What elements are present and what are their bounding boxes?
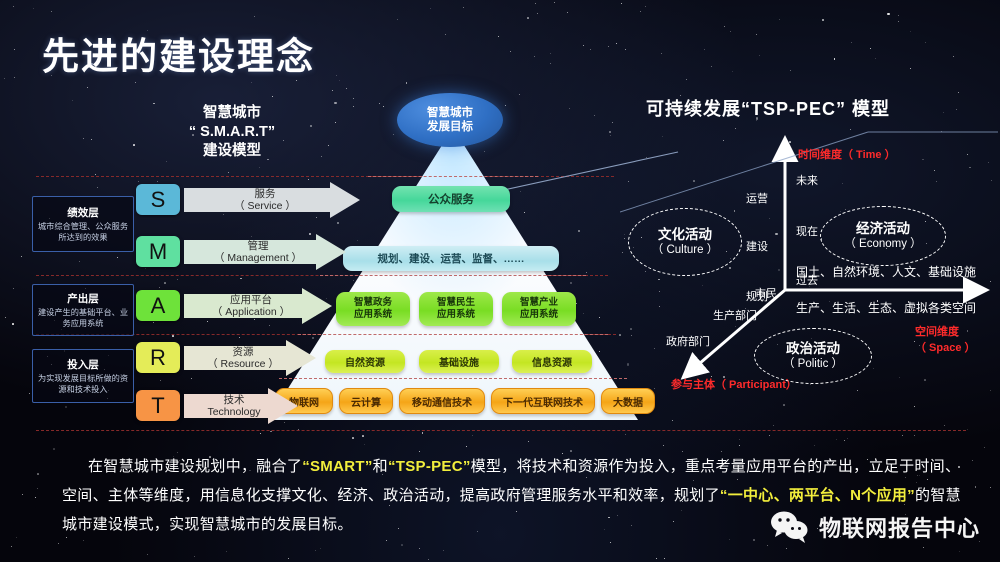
goal-line1: 智慧城市 [427, 106, 473, 120]
capsule-label-line1: 智慧产业 [520, 297, 558, 309]
goal-line2: 发展目标 [427, 120, 473, 134]
space-ticks-line2: 生产、生活、生态、虚拟各类空间 [796, 299, 976, 316]
pyramid-divider-4 [279, 378, 627, 379]
arrow-label-cn: 服务 [234, 188, 296, 201]
oval-economy-activity[interactable]: 经济活动 （ Economy ） [820, 206, 946, 266]
capsule-label-line2: 应用系统 [520, 309, 558, 321]
capsule-information-resources[interactable]: 信息资源 [512, 350, 592, 373]
arrow-label-en: Technology [207, 406, 260, 419]
watermark-text: 物联网报告中心 [819, 511, 980, 543]
capsule-management-scope[interactable]: 规划、建设、运营、监督、…… [343, 246, 559, 271]
infobox-performance-layer[interactable]: 绩效层 城市综合管理、公众服务所达到的效果 [32, 196, 134, 252]
tile-letter-a[interactable]: A [136, 290, 180, 321]
infobox-desc: 为实现发展目标所做的资源和技术投入 [33, 374, 133, 395]
oval-label-cn: 文化活动 [658, 227, 712, 243]
capsule-cloud-computing[interactable]: 云计算 [339, 388, 393, 414]
infobox-input-layer[interactable]: 投入层 为实现发展目标所做的资源和技术投入 [32, 349, 134, 403]
capsule-label: 下一代互联网技术 [503, 394, 583, 409]
page-title: 先进的建设理念 [42, 26, 315, 80]
arrow-label-en: （ Management ） [214, 252, 302, 265]
development-goal-ellipse: 智慧城市 发展目标 [397, 93, 503, 147]
oval-label-en: （ Politic ） [783, 357, 843, 371]
tile-letter: M [149, 239, 167, 265]
infobox-title: 绩效层 [67, 205, 99, 220]
capsule-public-service[interactable]: 公众服务 [392, 186, 510, 212]
capsule-label-line1: 智慧民生 [437, 297, 475, 309]
summary-highlight-smart: “SMART” [302, 458, 372, 475]
time-axis-label: 时间维度（ Time ） [798, 146, 896, 162]
wechat-icon [770, 510, 810, 544]
tile-letter: T [151, 393, 164, 419]
oval-label-cn: 政治活动 [786, 341, 840, 357]
capsule-label: 自然资源 [345, 354, 385, 369]
tile-letter: R [150, 345, 166, 371]
oval-label-en: （ Culture ） [652, 243, 718, 257]
summary-highlight-mode: “一中心、两平台、N个应用” [720, 487, 915, 504]
pyramid-divider-2 [320, 275, 586, 276]
arrow-label-en: （ Resource ） [207, 358, 279, 371]
arrow-label-cn: 管理 [214, 240, 302, 253]
slide-canvas: 先进的建设理念 智慧城市 “ S.M.A.R.T” 建设模型 可持续发展“TSP… [0, 0, 1000, 562]
space-axis-label-line2: （ Space ） [915, 339, 976, 355]
capsule-infrastructure[interactable]: 基础设施 [419, 350, 499, 373]
tile-letter: A [151, 293, 166, 319]
capsule-label: 规划、建设、运营、监督、…… [378, 251, 525, 266]
arrow-label-cn: 应用平台 [212, 294, 290, 307]
oval-label-en: （ Economy ） [844, 237, 921, 251]
infobox-title: 产出层 [67, 291, 99, 306]
infobox-desc: 城市综合管理、公众服务所达到的效果 [33, 222, 133, 243]
capsule-label: 基础设施 [439, 354, 479, 369]
stage-tick-operation: 运营 [746, 190, 768, 206]
capsule-smart-government[interactable]: 智慧政务 应用系统 [336, 292, 410, 326]
divider-bottom [36, 430, 966, 431]
capsule-label: 移动通信技术 [412, 394, 472, 409]
infobox-title: 投入层 [67, 357, 99, 372]
capsule-label: 信息资源 [532, 354, 572, 369]
capsule-label: 云计算 [351, 394, 381, 409]
space-axis-label-line1: 空间维度 [915, 323, 959, 339]
arrow-label-cn: 资源 [207, 346, 279, 359]
capsule-label: 公众服务 [428, 191, 474, 207]
watermark: 物联网报告中心 [770, 510, 980, 544]
infobox-output-layer[interactable]: 产出层 建设产生的基础平台、业务应用系统 [32, 284, 134, 336]
arrow-label-cn: 技术 [207, 394, 260, 407]
participant-tick-citizen: 市民 [755, 285, 777, 301]
capsule-label-line2: 应用系统 [354, 309, 392, 321]
tile-letter-t[interactable]: T [136, 390, 180, 421]
tile-letter-s[interactable]: S [136, 184, 180, 215]
stage-tick-construction: 建设 [746, 238, 768, 254]
tile-letter-r[interactable]: R [136, 342, 180, 373]
capsule-smart-livelihood[interactable]: 智慧民生 应用系统 [419, 292, 493, 326]
capsule-natural-resources[interactable]: 自然资源 [325, 350, 405, 373]
smart-caption-line1: 智慧城市 [152, 104, 312, 123]
time-tick-present: 现在 [796, 223, 818, 239]
capsule-label-line2: 应用系统 [437, 309, 475, 321]
oval-label-cn: 经济活动 [856, 221, 910, 237]
pyramid-divider-3 [298, 334, 609, 335]
oval-culture-activity[interactable]: 文化活动 （ Culture ） [628, 208, 742, 276]
oval-politic-activity[interactable]: 政治活动 （ Politic ） [754, 328, 872, 384]
participant-tick-production: 生产部门 [713, 307, 757, 323]
participant-tick-government: 政府部门 [666, 333, 710, 349]
tile-letter: S [151, 187, 166, 213]
arrow-label-en: （ Application ） [212, 306, 290, 319]
infobox-desc: 建设产生的基础平台、业务应用系统 [33, 308, 133, 329]
capsule-next-gen-internet[interactable]: 下一代互联网技术 [491, 388, 595, 414]
capsule-smart-industry[interactable]: 智慧产业 应用系统 [502, 292, 576, 326]
tile-letter-m[interactable]: M [136, 236, 180, 267]
summary-seg2: 和 [373, 458, 388, 475]
arrow-label-en: （ Service ） [234, 200, 296, 213]
summary-highlight-tsppec: “TSP-PEC” [388, 458, 471, 475]
summary-seg1: 在智慧城市建设规划中，融合了 [88, 458, 302, 475]
capsule-mobile-comms[interactable]: 移动通信技术 [399, 388, 485, 414]
capsule-label-line1: 智慧政务 [354, 297, 392, 309]
tsp-pec-diagram: 时间维度（ Time ） 未来 现在 过去 运营 建设 规划 国土、自然环境、人… [620, 130, 1000, 420]
time-tick-future: 未来 [796, 172, 818, 188]
tsp-pec-title: 可持续发展“TSP-PEC” 模型 [646, 95, 890, 121]
